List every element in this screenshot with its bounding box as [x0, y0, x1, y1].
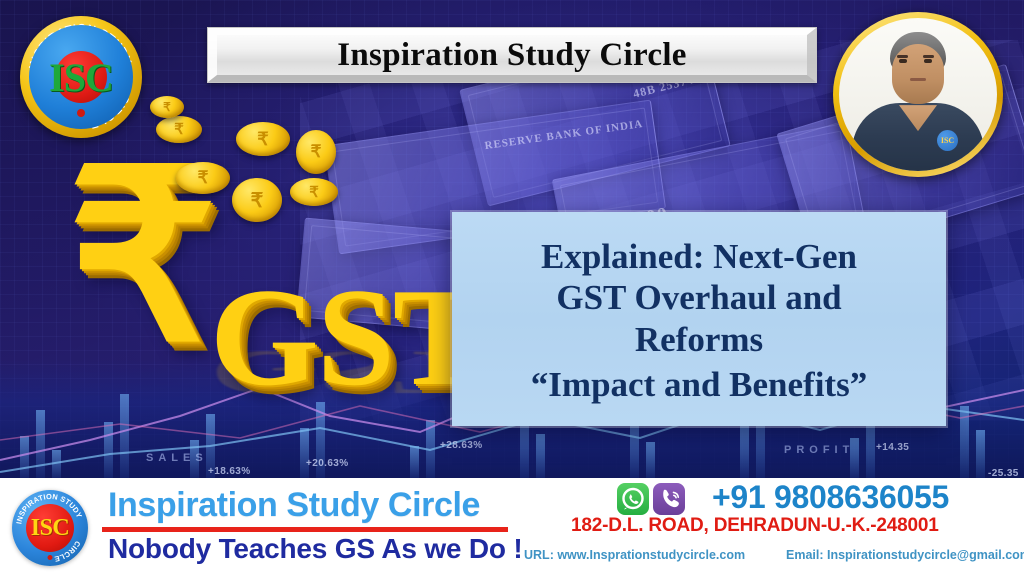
footer-logo-initials: ISC: [31, 515, 70, 542]
footer-email[interactable]: Email: Inspirationstudycircle@gmail.com: [786, 548, 1024, 562]
headline-line-3: Reforms: [635, 319, 763, 360]
page-title: Inspiration Study Circle: [337, 37, 686, 74]
avatar-mouth: [910, 78, 926, 81]
avatar-brow-left: [897, 55, 908, 58]
title-banner: Inspiration Study Circle: [207, 27, 817, 83]
coin-icon: ₹: [156, 116, 202, 143]
footer-divider: [102, 527, 508, 532]
avatar-collar: [899, 105, 937, 131]
gst-artwork: GST ₹ GST: [40, 120, 470, 440]
analytics-value: +14.35: [876, 442, 909, 453]
viber-icon[interactable]: [653, 483, 685, 515]
footer-logo-dot: [48, 555, 53, 560]
logo-dot: [77, 109, 85, 117]
footer-logo: INSPIRATION STUDY CIRCLE ISC: [12, 490, 88, 566]
analytics-value: +28.63%: [440, 440, 483, 451]
footer-brand-name: Inspiration Study Circle: [108, 486, 528, 525]
footer-phone[interactable]: +91 9808636055: [712, 479, 949, 516]
logo-badge: INSPIRATION STUDY CIRCLE ISC: [20, 16, 142, 138]
avatar-face: [892, 44, 944, 104]
headline-line-1: Explained: Next-Gen: [541, 236, 857, 277]
avatar-eye-left: [899, 59, 907, 63]
coin-icon: ₹: [150, 96, 184, 118]
logo-ring: ISC: [29, 25, 133, 129]
gst-wordmark: GST: [210, 268, 484, 408]
footer-address: 182-D.L. ROAD, DEHRADUN-U.-K.-248001: [571, 515, 939, 537]
footer-logo-core: ISC: [26, 504, 74, 552]
logo-initials: ISC: [49, 54, 113, 101]
poster-canvas: ₹500 48B 253749 RESERVE BANK OF INDIA ₹5…: [0, 0, 1024, 576]
coin-icon: ₹: [236, 122, 290, 156]
whatsapp-glyph: [617, 483, 649, 515]
headline-line-2: GST Overhaul and: [556, 277, 841, 318]
analytics-label-sales: SALES: [146, 452, 208, 464]
footer-tagline: Nobody Teaches GS As we Do !: [108, 533, 538, 565]
avatar-image: ISC: [839, 18, 997, 171]
headline-panel: Explained: Next-Gen GST Overhaul and Ref…: [452, 212, 946, 426]
coin-icon: ₹: [232, 178, 282, 222]
coin-icon: ₹: [176, 162, 230, 194]
headline-line-4: “Impact and Benefits”: [531, 364, 867, 406]
avatar-isc-badge: ISC: [937, 130, 958, 151]
analytics-value: +20.63%: [306, 458, 349, 469]
analytics-value: +18.63%: [208, 466, 251, 477]
coin-icon: ₹: [290, 178, 338, 206]
whatsapp-icon[interactable]: [617, 483, 649, 515]
footer-url[interactable]: URL: www.Insprationstudycircle.com: [524, 548, 745, 562]
viber-glyph: [653, 483, 685, 515]
avatar-brow-right: [923, 55, 934, 58]
avatar-shirt: ISC: [852, 103, 984, 171]
coin-icon: ₹: [296, 130, 336, 174]
analytics-label-profit: PROFIT: [784, 444, 854, 456]
contact-icons: [617, 478, 701, 520]
logo-core: ISC: [55, 51, 107, 103]
avatar: ISC: [833, 12, 1003, 177]
